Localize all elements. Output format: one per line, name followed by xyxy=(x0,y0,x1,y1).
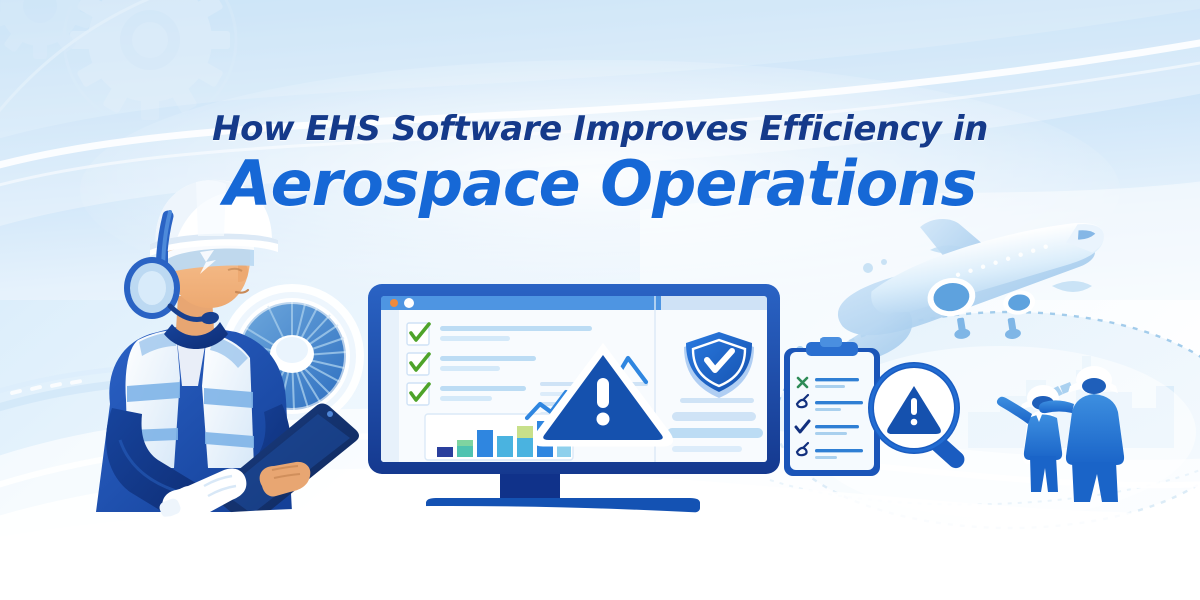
desktop-monitor[interactable] xyxy=(368,284,780,513)
panel-header xyxy=(661,296,767,310)
sidebar-rail xyxy=(381,310,399,462)
illustration-layer xyxy=(0,0,1200,600)
inspection-clipboard xyxy=(784,337,880,476)
ground-crew-silhouettes xyxy=(997,366,1124,502)
window-dot-orange[interactable] xyxy=(390,299,398,307)
infographic-banner: How EHS Software Improves Efficiency in … xyxy=(0,0,1200,600)
magnifying-glass xyxy=(868,362,968,471)
window-dot-white[interactable] xyxy=(404,298,414,308)
bottom-fade xyxy=(0,506,1200,600)
